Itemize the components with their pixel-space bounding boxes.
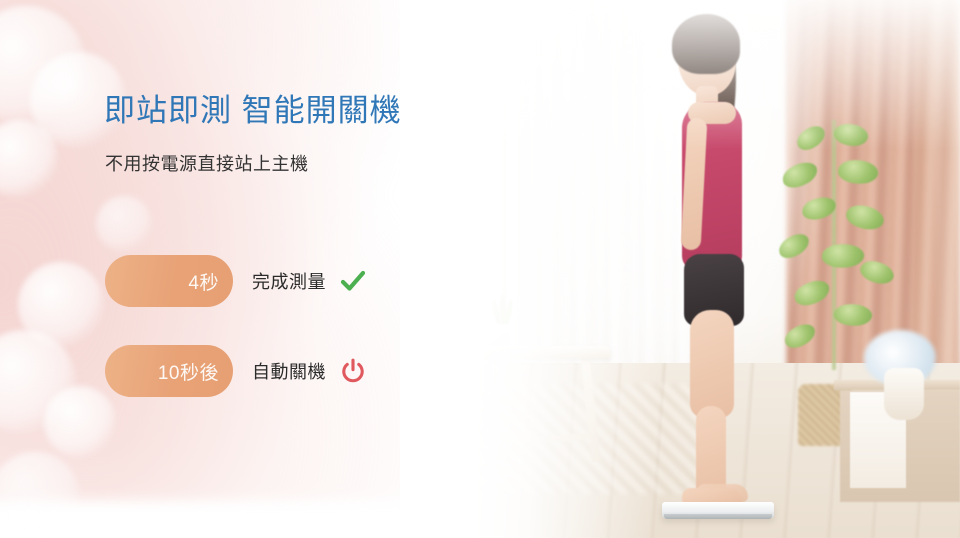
feature-label-measure: 完成測量: [252, 268, 326, 294]
woman-in-pink-tank-top: [648, 14, 798, 526]
plant-leaf: [832, 301, 873, 329]
power-icon: [338, 356, 368, 386]
text-content: 即站即測 智能開關機 不用按電源直接站上主機 4秒 完成測量 10秒後 自動關機: [0, 0, 520, 538]
thigh: [690, 310, 734, 418]
plant-leaf: [821, 242, 865, 270]
page-title: 即站即測 智能開關機: [104, 85, 402, 130]
plant-leaf: [831, 119, 870, 150]
plant-leaf: [857, 256, 897, 290]
feature-list: 4秒 完成測量 10秒後 自動關機: [105, 255, 368, 435]
feature-row-autooff: 10秒後 自動關機: [105, 345, 368, 397]
duration-badge-label: 4秒: [188, 268, 219, 295]
duration-badge-10s: 10秒後: [105, 345, 233, 397]
product-feature-poster: 即站即測 智能開關機 不用按電源直接站上主機 4秒 完成測量 10秒後 自動關機: [0, 0, 960, 538]
scale-base-edge: [664, 514, 772, 519]
check-icon: [338, 266, 368, 296]
feature-row-measure: 4秒 完成測量: [105, 255, 368, 307]
page-subtitle: 不用按電源直接站上主機: [105, 150, 309, 176]
plant-leaf: [843, 200, 887, 236]
feature-label-autooff: 自動關機: [252, 358, 326, 384]
duration-badge-4s: 4秒: [105, 255, 233, 307]
plant-leaf: [836, 156, 880, 188]
hair: [672, 14, 740, 74]
duration-badge-label: 10秒後: [158, 358, 219, 385]
plant-leaf: [793, 123, 829, 153]
